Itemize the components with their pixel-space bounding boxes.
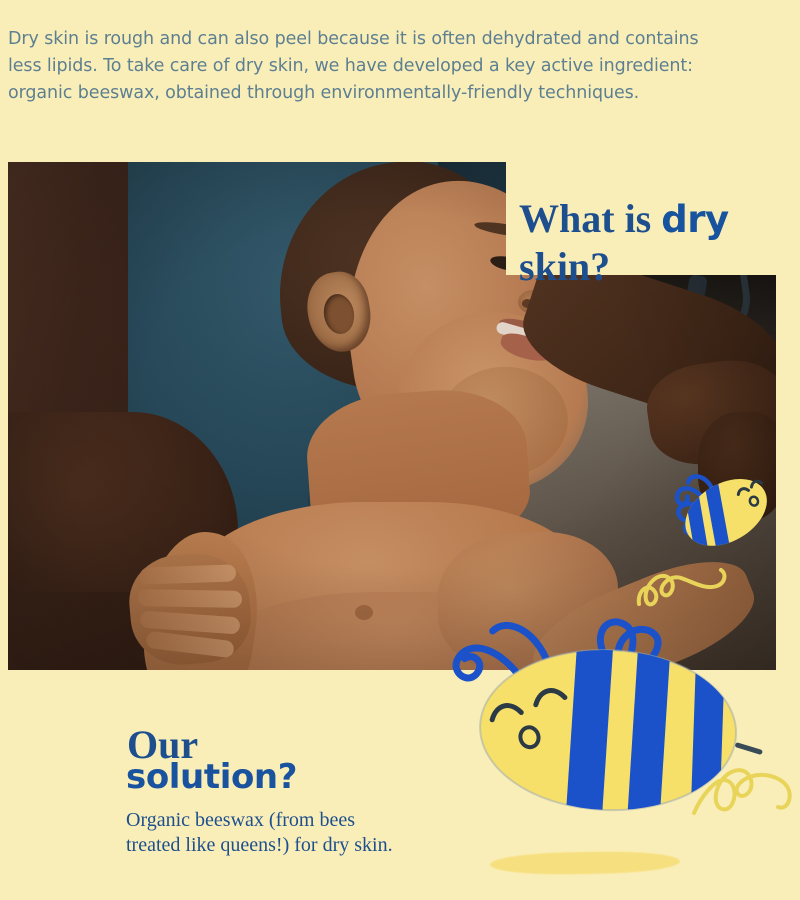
page-canvas: Dry skin is rough and can also peel beca… [0,0,800,900]
solution-body-text: Organic beeswax (from bees treated like … [126,808,406,858]
intro-paragraph: Dry skin is rough and can also peel beca… [8,26,708,107]
heading-solution: solution? [126,757,297,797]
heading-what-regular: What is [519,196,661,241]
yellow-brush-stroke [490,850,680,875]
heading-what-line2: skin? [519,244,610,289]
bee-illustration-small [665,455,785,575]
page-title-what-is-dry-skin: What is dry skin? [519,195,789,290]
flight-trail-squiggle-2 [690,755,800,825]
heading-what-bold: dry [661,198,728,241]
